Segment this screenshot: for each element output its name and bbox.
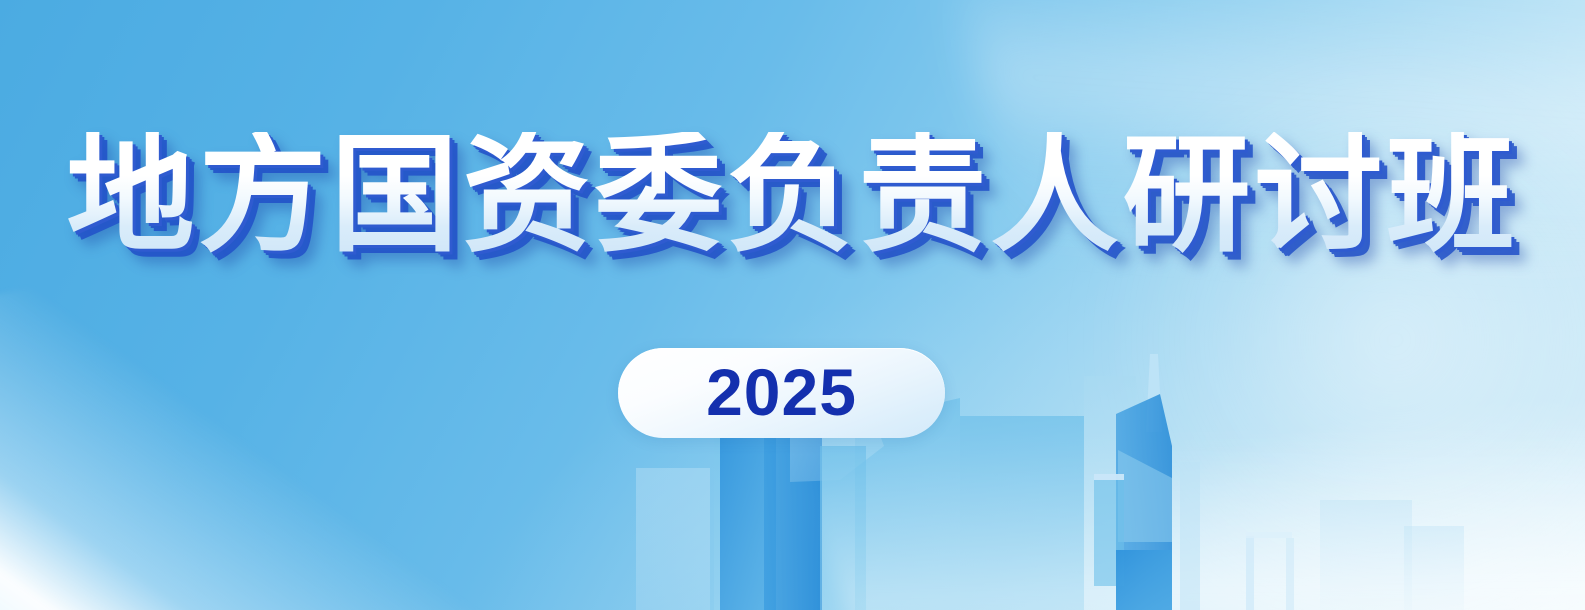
building-left-slab xyxy=(820,446,866,610)
building-mid-a xyxy=(960,416,1084,610)
year-badge-label: 2025 xyxy=(706,359,857,428)
year-badge: 2025 xyxy=(618,348,945,438)
building-thin-right xyxy=(1180,462,1200,610)
tower-wing-cap xyxy=(1094,474,1124,480)
corner-light-ribbon xyxy=(0,280,570,610)
tower-base xyxy=(1116,550,1172,610)
building-ghost-a xyxy=(636,468,710,610)
building-ghost-b xyxy=(1320,500,1412,610)
title-container: 地方国资委负责人研讨班 xyxy=(0,132,1585,260)
banner-title: 地方国资委负责人研讨班 xyxy=(66,132,1518,260)
building-outline-b xyxy=(1286,538,1294,610)
event-banner: 地方国资委负责人研讨班 2025 xyxy=(0,0,1585,610)
building-outline-a xyxy=(1246,536,1254,610)
building-outline-a-cap xyxy=(1246,532,1292,538)
building-ghost-c xyxy=(1404,526,1464,610)
